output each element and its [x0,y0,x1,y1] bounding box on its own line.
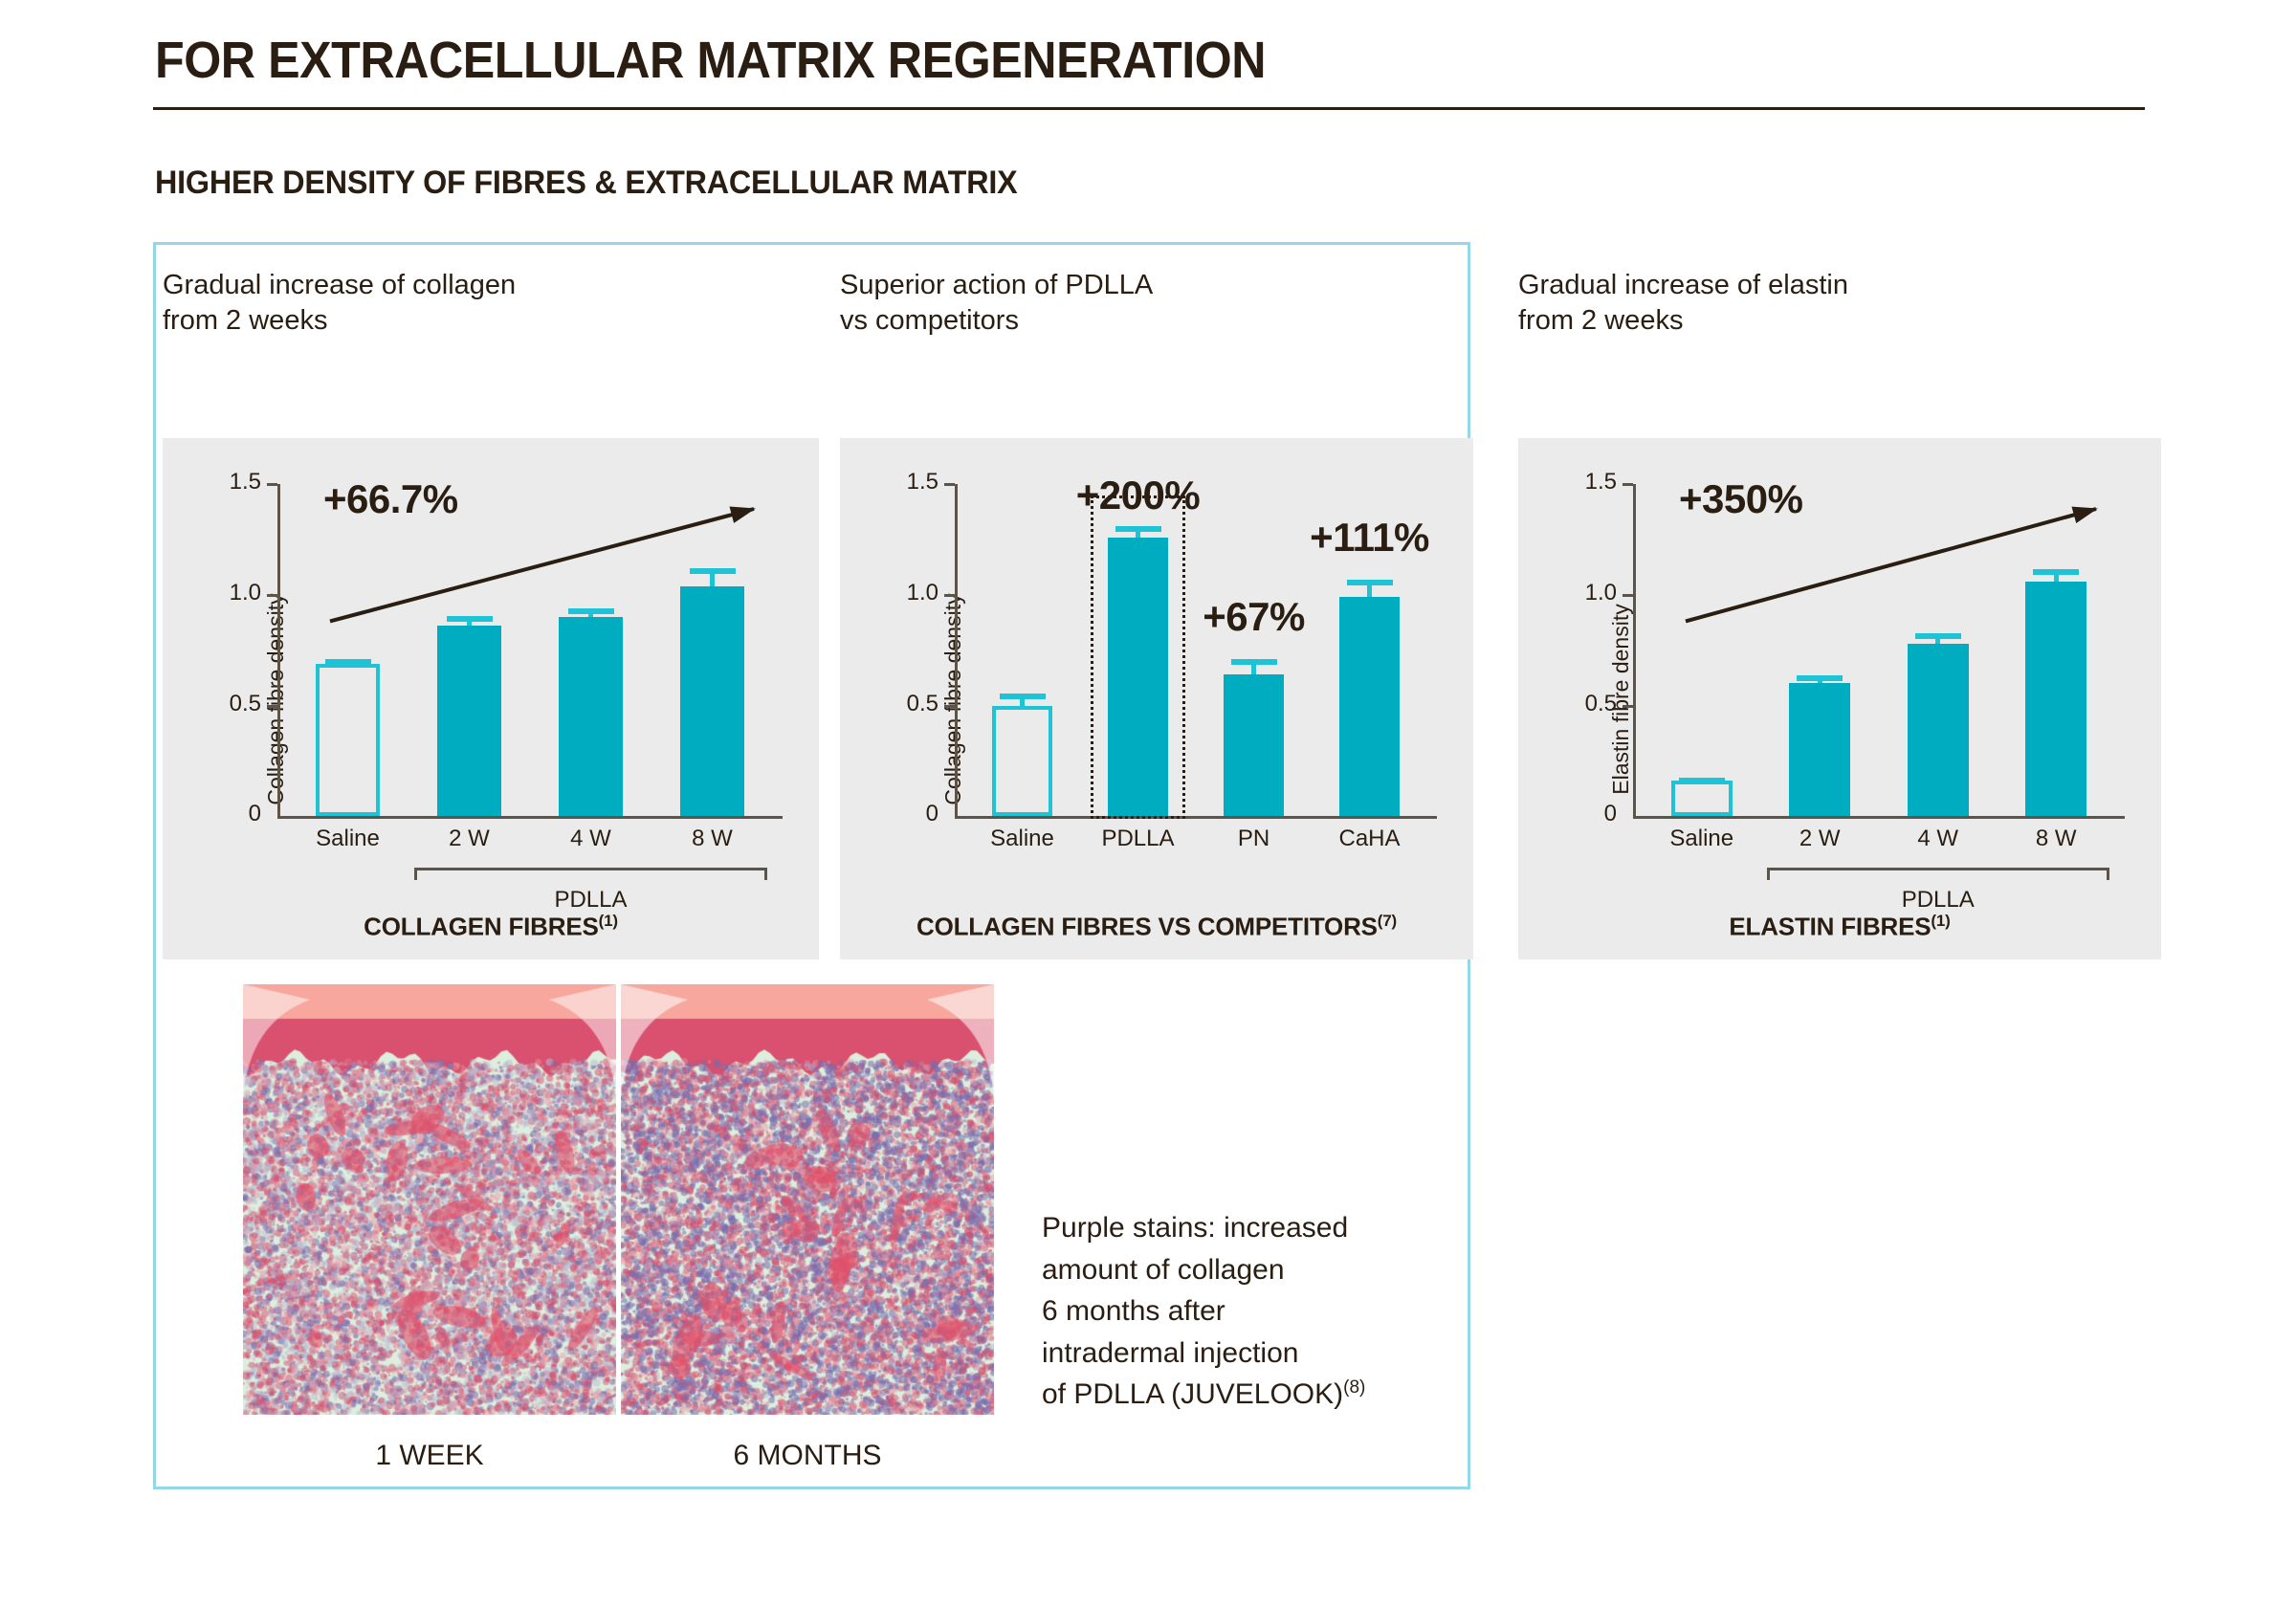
bar-8-w [680,586,743,817]
chart-card-elastin-fibres: Gradual increase of elastin from 2 weeks… [1518,268,2161,959]
bar-caha [1339,597,1400,816]
chart-title: COLLAGEN FIBRES(1) [163,912,819,942]
histology-image-6-months [621,984,994,1415]
percentage-annotation: +350% [1679,476,1802,522]
y-axis-tick [267,705,277,708]
error-bar-cap [1915,633,1961,639]
y-axis-tick [1623,594,1633,597]
bar-2-w [1789,683,1850,816]
percentage-annotation: +200% [1057,473,1220,518]
error-bar-cap [1231,659,1277,665]
y-axis-tick [944,705,955,708]
x-axis-tick-label: 4 W [1871,826,2005,852]
y-axis-tick-label: 1.0 [854,580,938,606]
histology-caption-left: 1 WEEK [243,1440,616,1472]
y-axis-line [277,484,280,816]
bar-pn [1224,674,1284,816]
y-axis-tick-label: 1.0 [1533,580,1617,606]
page-title: FOR EXTRACELLULAR MATRIX REGENERATION [155,31,1266,90]
bar-saline [316,664,379,817]
y-axis-tick [267,594,277,597]
y-axis-tick-label: 0 [177,801,261,827]
bar-4-w [1908,644,1969,816]
y-axis-tick-label: 0 [1533,801,1617,827]
y-axis-tick-label: 1.0 [177,580,261,606]
y-axis-tick-label: 0.5 [854,691,938,717]
plot-area-collagen-fibres: Collagen fibre density00.51.01.5Saline2 … [163,438,819,959]
chart-title-text: ELASTIN FIBRES [1729,913,1931,941]
chart-title-ref: (1) [1931,912,1950,930]
y-axis-tick [944,483,955,486]
bar-saline [1671,781,1733,816]
x-axis-line [955,816,1437,819]
y-axis-tick [1623,705,1633,708]
y-axis-tick [267,483,277,486]
chart-title-ref: (1) [599,912,618,930]
x-axis-tick-label: 2 W [1753,826,1887,852]
y-axis-tick-label: 1.5 [854,469,938,496]
x-axis-tick-label: 4 W [524,826,658,852]
error-bar-cap [1347,580,1393,585]
page-root: FOR EXTRACELLULAR MATRIX REGENERATION HI… [0,0,2296,1608]
group-bracket-label: PDLLA [376,887,806,914]
x-axis-tick-label: Saline [956,826,1090,852]
chart-title: ELASTIN FIBRES(1) [1518,912,2161,942]
x-axis-tick-label: PDLLA [1071,826,1205,852]
y-axis-label: Collagen fibre density [263,593,289,804]
histology-note-text: Purple stains: increased amount of colla… [1042,1212,1348,1410]
y-axis-line [1633,484,1636,816]
x-axis-tick-label: 2 W [403,826,537,852]
group-bracket [414,868,767,883]
x-axis-tick-label: 8 W [646,826,780,852]
y-axis-tick-label: 1.5 [1533,469,1617,496]
bar-saline [992,706,1052,817]
chart-title: COLLAGEN FIBRES VS COMPETITORS(7) [840,912,1473,942]
error-bar-cap [325,659,371,665]
plot-area-elastin-fibres: Elastin fibre density00.51.01.5Saline2 W… [1518,438,2161,959]
bar-8-w [2025,582,2086,816]
chart-card-collagen-vs-competitors: Superior action of PDLLA vs competitors … [840,268,1473,959]
x-axis-tick-label: PN [1187,826,1321,852]
percentage-annotation: +111% [1289,515,1451,561]
group-bracket-label: PDLLA [1729,887,2149,914]
y-axis-tick [944,594,955,597]
y-axis-tick-label: 0 [854,801,938,827]
y-axis-label: Collagen fibre density [940,593,966,804]
percentage-annotation: +66.7% [323,476,458,522]
histology-caption-right: 6 MONTHS [621,1440,994,1472]
title-divider [153,107,2145,110]
bar-4-w [559,617,622,816]
error-bar-cap [1000,694,1046,699]
error-bar-cap [690,568,736,574]
y-axis-line [955,484,958,816]
chart-title-text: COLLAGEN FIBRES [364,913,598,941]
error-bar-cap [1797,675,1843,681]
bar-2-w [437,626,500,816]
group-bracket [1767,868,2110,883]
x-axis-tick-label: 8 W [1989,826,2123,852]
chart-title-ref: (7) [1378,912,1397,930]
error-bar-cap [447,616,493,622]
chart-caption: Gradual increase of collagen from 2 week… [163,268,819,339]
plot-area-collagen-vs-competitors: Collagen fibre density00.51.01.5SalinePD… [840,438,1473,959]
error-bar-cap [2033,569,2079,575]
y-axis-tick-label: 0.5 [1533,691,1617,717]
x-axis-tick-label: Saline [281,826,415,852]
x-axis-line [1633,816,2125,819]
highlight-box-pdlla [1091,496,1185,819]
chart-caption: Gradual increase of elastin from 2 weeks [1518,268,2161,339]
percentage-annotation: +67% [1173,594,1336,640]
chart-caption: Superior action of PDLLA vs competitors [840,268,1473,339]
section-subtitle: HIGHER DENSITY OF FIBRES & EXTRACELLULAR… [155,165,1017,202]
chart-title-text: COLLAGEN FIBRES VS COMPETITORS [916,913,1378,941]
y-axis-tick-label: 0.5 [177,691,261,717]
error-bar-cap [1679,778,1725,783]
histology-image-1-week [243,984,616,1415]
y-axis-tick-label: 1.5 [177,469,261,496]
histology-note: Purple stains: increased amount of colla… [1042,1207,1365,1416]
error-bar-cap [568,608,614,614]
chart-card-collagen-fibres: Gradual increase of collagen from 2 week… [163,268,819,959]
y-axis-tick [1623,483,1633,486]
x-axis-line [277,816,783,819]
histology-note-ref: (8) [1343,1377,1365,1398]
x-axis-tick-label: Saline [1635,826,1769,852]
x-axis-tick-label: CaHA [1303,826,1437,852]
